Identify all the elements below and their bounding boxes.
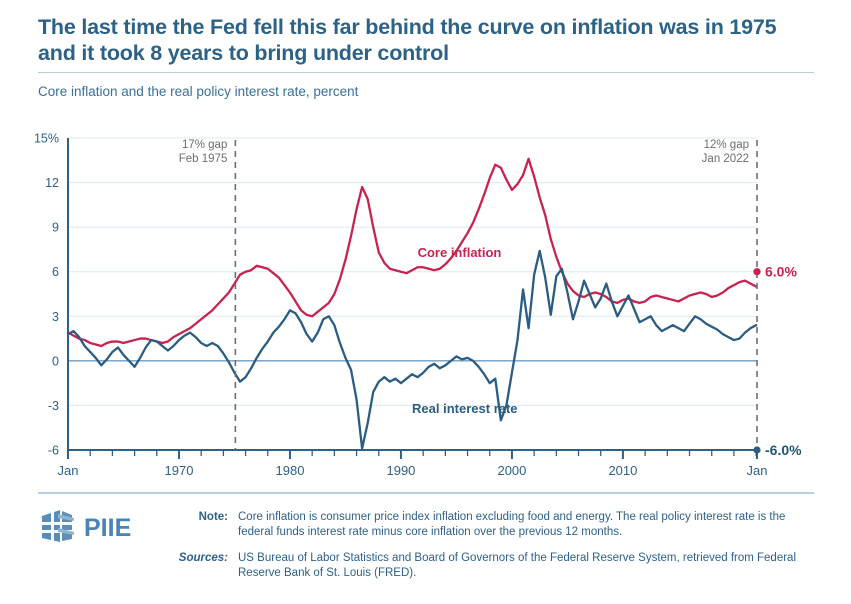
sources-text: US Bureau of Labor Statistics and Board … bbox=[238, 551, 818, 581]
y-axis-tick-label: 3 bbox=[52, 310, 59, 324]
y-axis-tick-label: -6 bbox=[48, 444, 59, 458]
y-axis-tick-label: -3 bbox=[48, 399, 59, 413]
title-divider bbox=[38, 72, 814, 73]
x-axis-tick-label: 2000 bbox=[497, 463, 526, 478]
endpoint-dot-real-rate-end bbox=[753, 446, 760, 453]
endpoint-label-real-rate-end: -6.0% bbox=[765, 442, 802, 458]
y-axis-tick-label: 15% bbox=[34, 132, 59, 146]
x-axis-tick-label: Jan bbox=[747, 463, 768, 478]
x-axis-tick-label: 1990 bbox=[386, 463, 415, 478]
endpoint-dot-core-inflation-end bbox=[753, 268, 760, 275]
piie-logo-mark bbox=[40, 510, 76, 542]
chart-subtitle: Core inflation and the real policy inter… bbox=[38, 84, 358, 99]
annotation-label-line1: 17% gap bbox=[182, 139, 227, 151]
annotation-label-line2: Feb 1975 bbox=[179, 153, 228, 165]
page-title: The last time the Fed fell this far behi… bbox=[38, 14, 818, 66]
series-label-real-interest-rate: Real interest rate bbox=[412, 401, 517, 416]
piie-logo-text: PIIE bbox=[84, 514, 131, 542]
series-line-real-interest-rate bbox=[68, 251, 756, 449]
sources-row: Sources: US Bureau of Labor Statistics a… bbox=[168, 551, 818, 581]
y-axis-tick-label: 0 bbox=[52, 354, 59, 368]
y-axis-tick-label: 12 bbox=[45, 176, 59, 190]
inflation-real-rate-chart: 15%129630-3-6Jan196019701980199020002010… bbox=[0, 120, 851, 480]
annotation-label-line1: 12% gap bbox=[704, 139, 749, 151]
x-axis-tick-label: 1980 bbox=[276, 463, 305, 478]
footnotes: Note: Core inflation is consumer price i… bbox=[168, 510, 818, 592]
series-label-core-inflation: Core inflation bbox=[418, 245, 502, 260]
x-axis-tick-label: 1970 bbox=[165, 463, 194, 478]
chart-page: The last time the Fed fell this far behi… bbox=[0, 0, 851, 604]
y-axis-tick-label: 6 bbox=[52, 265, 59, 279]
note-text: Core inflation is consumer price index i… bbox=[238, 510, 818, 540]
sources-label: Sources: bbox=[168, 551, 238, 581]
annotation-label-line2: Jan 2022 bbox=[702, 153, 749, 165]
y-axis-tick-label: 9 bbox=[52, 221, 59, 235]
x-axis-tick-label: 2010 bbox=[608, 463, 637, 478]
endpoint-label-core-inflation-end: 6.0% bbox=[765, 264, 797, 280]
x-axis-tick-label: Jan bbox=[58, 463, 79, 478]
piie-logo: PIIE bbox=[38, 506, 158, 546]
note-label: Note: bbox=[168, 510, 238, 540]
footer-divider bbox=[38, 492, 814, 494]
note-row: Note: Core inflation is consumer price i… bbox=[168, 510, 818, 540]
chart-container: 15%129630-3-6Jan196019701980199020002010… bbox=[0, 120, 851, 480]
